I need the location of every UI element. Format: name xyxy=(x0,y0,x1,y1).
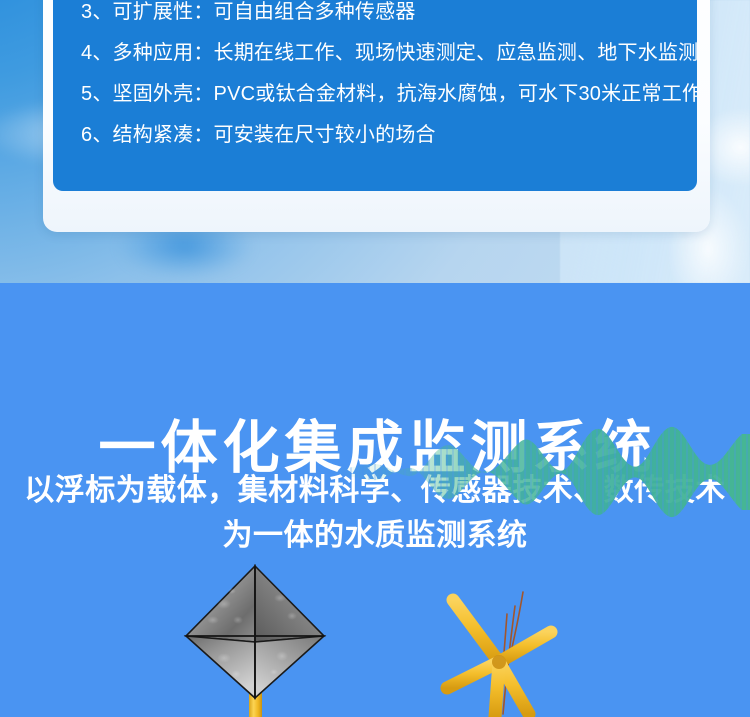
list-item: 4、 多种应用： 长期在线工作、现场快速测定、应急监测、地下水监测 xyxy=(81,33,687,74)
list-item: 3、 可扩展性： 可自由组合多种传感器 xyxy=(81,0,687,33)
subtitle-line-2: 为一体的水质监测系统 xyxy=(0,513,750,558)
list-item-description: 长期在线工作、现场快速测定、应急监测、地下水监测 xyxy=(214,33,697,74)
star-hub xyxy=(492,655,506,669)
green-waveform-icon xyxy=(330,424,750,519)
list-item-number: 5、 xyxy=(81,74,113,115)
list-item-description: 可自由组合多种传感器 xyxy=(214,0,416,33)
star-antenna-icon xyxy=(437,588,577,717)
list-item: 6、 结构紧凑： 可安装在尺寸较小的场合 xyxy=(81,115,687,156)
feature-list: 3、 可扩展性： 可自由组合多种传感器 4、 多种应用： 长期在线工作、现场快速… xyxy=(81,0,687,156)
list-item-number: 6、 xyxy=(81,115,113,156)
product-detail-page: 3、 可扩展性： 可自由组合多种传感器 4、 多种应用： 长期在线工作、现场快速… xyxy=(0,0,750,717)
list-item-number: 3、 xyxy=(81,0,113,33)
list-item-description: 可安装在尺寸较小的场合 xyxy=(214,115,436,156)
list-item-number: 4、 xyxy=(81,33,113,74)
list-item-term: 可扩展性： xyxy=(113,0,214,33)
feature-card: 3、 可扩展性： 可自由组合多种传感器 4、 多种应用： 长期在线工作、现场快速… xyxy=(53,0,697,191)
star-arm-upper-left xyxy=(453,600,499,662)
list-item-term: 坚固外壳： xyxy=(113,74,214,115)
features-section: 3、 可扩展性： 可自由组合多种传感器 4、 多种应用： 长期在线工作、现场快速… xyxy=(0,0,750,283)
star-arm-down xyxy=(495,662,499,717)
star-arm-right xyxy=(499,632,551,662)
list-item: 5、 坚固外壳： PVC或钛合金材料，抗海水腐蚀，可水下30米正常工作 xyxy=(81,74,687,115)
radar-reflector-icon xyxy=(180,558,330,717)
list-item-description: PVC或钛合金材料，抗海水腐蚀，可水下30米正常工作 xyxy=(214,74,697,115)
list-item-term: 结构紧凑： xyxy=(113,115,214,156)
list-item-term: 多种应用： xyxy=(113,33,214,74)
